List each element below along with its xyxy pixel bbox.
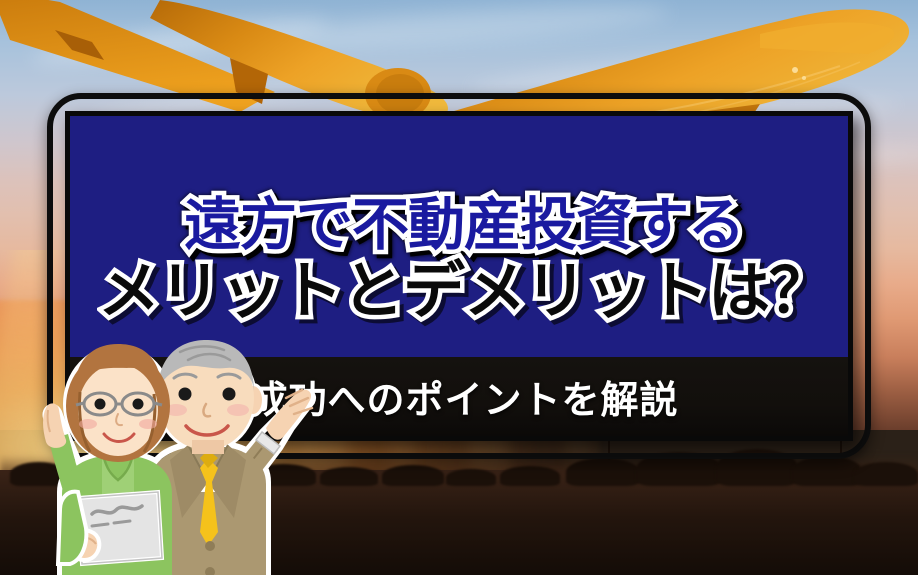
- banner-image: 遠方で不動産投資する メリットとデメリットは？ 成功へのポイントを解説: [0, 0, 918, 575]
- man-body: [150, 340, 312, 575]
- title-block: 遠方で不動産投資する メリットとデメリットは？: [70, 116, 853, 357]
- title-line-2: メリットとデメリットは？: [98, 260, 830, 322]
- character-illustration: [30, 332, 320, 575]
- title-line-1: 遠方で不動産投資する: [184, 197, 744, 254]
